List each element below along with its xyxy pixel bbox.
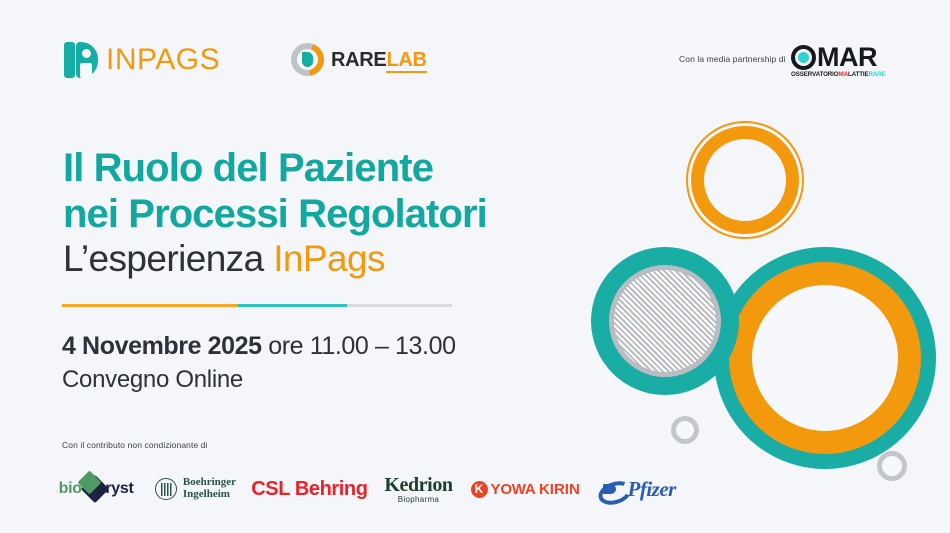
poster-canvas: INPAGS RARELAB Con la media partnership … (0, 0, 950, 533)
teal-large-circle-decoration (714, 247, 936, 469)
omar-subtitle: OSSERVATORIOMALATTIERARE (791, 71, 886, 78)
omar-logo[interactable]: MAR OSSERVATORIOMALATTIERARE (791, 45, 886, 78)
inpags-mark-icon (64, 42, 98, 78)
sponsors-label: Con il contributo non condizionante di (62, 440, 208, 450)
omar-subtitle-part-1: OSSERVATORIO (791, 71, 839, 78)
kyowa-word: YOWA (491, 481, 539, 498)
omar-wordmark: MAR (817, 45, 877, 70)
omar-subtitle-part-4: RARE (869, 71, 886, 78)
divider-segment-teal (238, 304, 347, 307)
sponsors-row: bio cryst Boehringer Ingelheim CSL Behri… (50, 466, 690, 512)
kedrion-subtitle: Biopharma (384, 496, 452, 504)
divider-segment-gray (347, 304, 452, 307)
gray-outline-dot-decoration (671, 416, 699, 444)
kyowa-kirin-badge-icon: K (471, 481, 488, 498)
rarelab-word-rare: RARE (331, 49, 386, 71)
gray-outline-dot-decoration-2 (877, 451, 907, 481)
hatched-disc-icon (609, 265, 721, 377)
sponsor-logo-pfizer[interactable]: Pfizer (583, 466, 690, 512)
event-date-time: 4 Novembre 2025 ore 11.00 – 13.00 (62, 332, 456, 361)
event-mode: Convegno Online (62, 366, 243, 394)
header: INPAGS RARELAB Con la media partnership … (0, 0, 950, 110)
sponsor-logo-biocryst[interactable]: bio cryst (50, 466, 142, 512)
event-title-line-2: nei Processi Regolatori (63, 194, 487, 234)
omar-subtitle-part-2: MA (839, 71, 848, 78)
event-date: 4 Novembre 2025 (62, 332, 262, 360)
pfizer-wordmark: Pfizer (628, 477, 676, 502)
divider (62, 304, 452, 307)
orange-ring-circle-decoration (686, 121, 804, 239)
divider-segment-orange (62, 304, 238, 307)
sponsor-logo-csl-behring[interactable]: CSL Behring (249, 466, 370, 512)
sponsor-logo-kedrion[interactable]: Kedrion Biopharma (370, 466, 467, 512)
kedrion-wordmark: Kedrion (384, 475, 452, 495)
teal-small-circle-decoration (591, 247, 739, 395)
event-subtitle-plain: L’esperienza (63, 238, 273, 279)
omar-wordmark-row: MAR (791, 45, 886, 70)
event-subtitle: L’esperienza InPags (63, 240, 385, 277)
sponsor-logo-boehringer-ingelheim[interactable]: Boehringer Ingelheim (142, 466, 249, 512)
rarelab-circle-icon (291, 43, 324, 76)
omar-subtitle-part-3: LATTIE (848, 71, 869, 78)
event-subtitle-accent: InPags (273, 238, 385, 279)
inpags-wordmark: INPAGS (106, 43, 220, 77)
kirin-word: KIRIN (539, 481, 580, 498)
inpags-logo[interactable]: INPAGS (64, 42, 220, 78)
csl-behring-wordmark: CSL Behring (251, 478, 367, 501)
boehringer-line-2: Ingelheim (183, 489, 236, 501)
pfizer-swoosh-icon (598, 479, 624, 499)
omar-o-circle-icon (791, 45, 816, 70)
rarelab-logo[interactable]: RARELAB (291, 43, 427, 76)
rarelab-word-lab: LAB (386, 49, 426, 73)
rarelab-wordmark: RARELAB (331, 50, 427, 70)
kyowa-kirin-wordmark: YOWA KIRIN (491, 481, 580, 498)
boehringer-crest-icon (155, 478, 177, 500)
boehringer-wordmark: Boehringer Ingelheim (183, 477, 236, 500)
sponsor-logo-kyowa-kirin[interactable]: K YOWA KIRIN (467, 466, 583, 512)
event-time: ore 11.00 – 13.00 (262, 332, 456, 360)
media-partnership-label: Con la media partnership di (679, 54, 786, 64)
event-title-line-1: Il Ruolo del Paziente (63, 148, 433, 188)
